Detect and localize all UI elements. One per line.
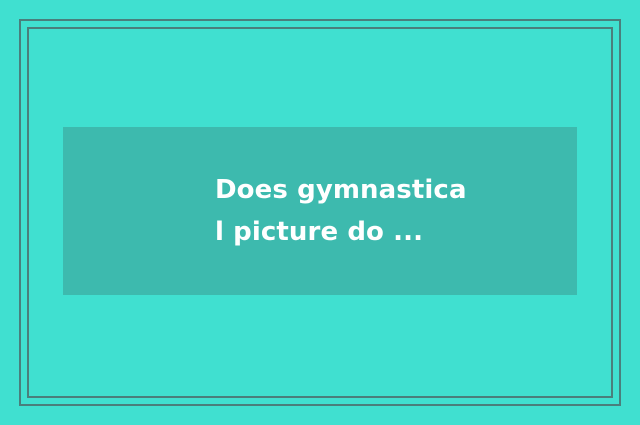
- placeholder-card: Does gymnastica l picture do ...: [0, 0, 640, 425]
- content-panel: Does gymnastica l picture do ...: [63, 127, 577, 295]
- page-title: Does gymnastica l picture do ...: [215, 169, 467, 253]
